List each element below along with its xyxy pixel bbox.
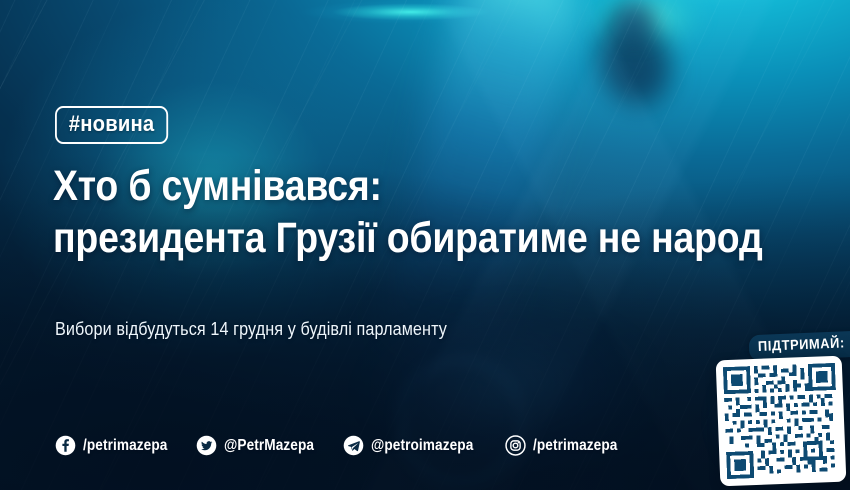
subtitle: Вибори відбудуться 14 грудня у будівлі п… [55,319,447,340]
headline-line-1: Хто б сумнівався: [53,160,662,212]
qr-code-card[interactable] [716,356,847,487]
social-handle-telegram: @petroimazepa [371,437,473,455]
social-link-twitter[interactable]: @PetrMazepa [196,435,326,456]
telegram-icon [343,435,364,456]
instagram-icon [505,435,526,456]
headline-line-2: президента Грузії обиратиме не народ [53,212,662,264]
social-link-telegram[interactable]: @petroimazepa [343,435,487,456]
qr-code-icon [723,363,839,479]
support-qr-block[interactable]: ПІДТРИМАЙ: [712,333,850,490]
social-link-facebook[interactable]: /petrimazepa [55,435,179,456]
facebook-icon [55,435,76,456]
news-card: #новина Хто б сумнівався: президента Гру… [0,0,850,490]
social-handle-facebook: /petrimazepa [83,437,167,455]
social-handle-instagram: /petrimazepa [533,437,617,455]
support-label: ПІДТРИМАЙ: [758,335,845,353]
social-handle-twitter: @PetrMazepa [224,437,314,455]
page-title: Хто б сумнівався: президента Грузії обир… [53,160,662,264]
social-link-instagram[interactable]: /petrimazepa [505,435,629,456]
social-links: /petrimazepa @PetrMazepa [55,435,629,456]
twitter-icon [196,435,217,456]
news-tag-badge[interactable]: #новина [55,106,168,144]
